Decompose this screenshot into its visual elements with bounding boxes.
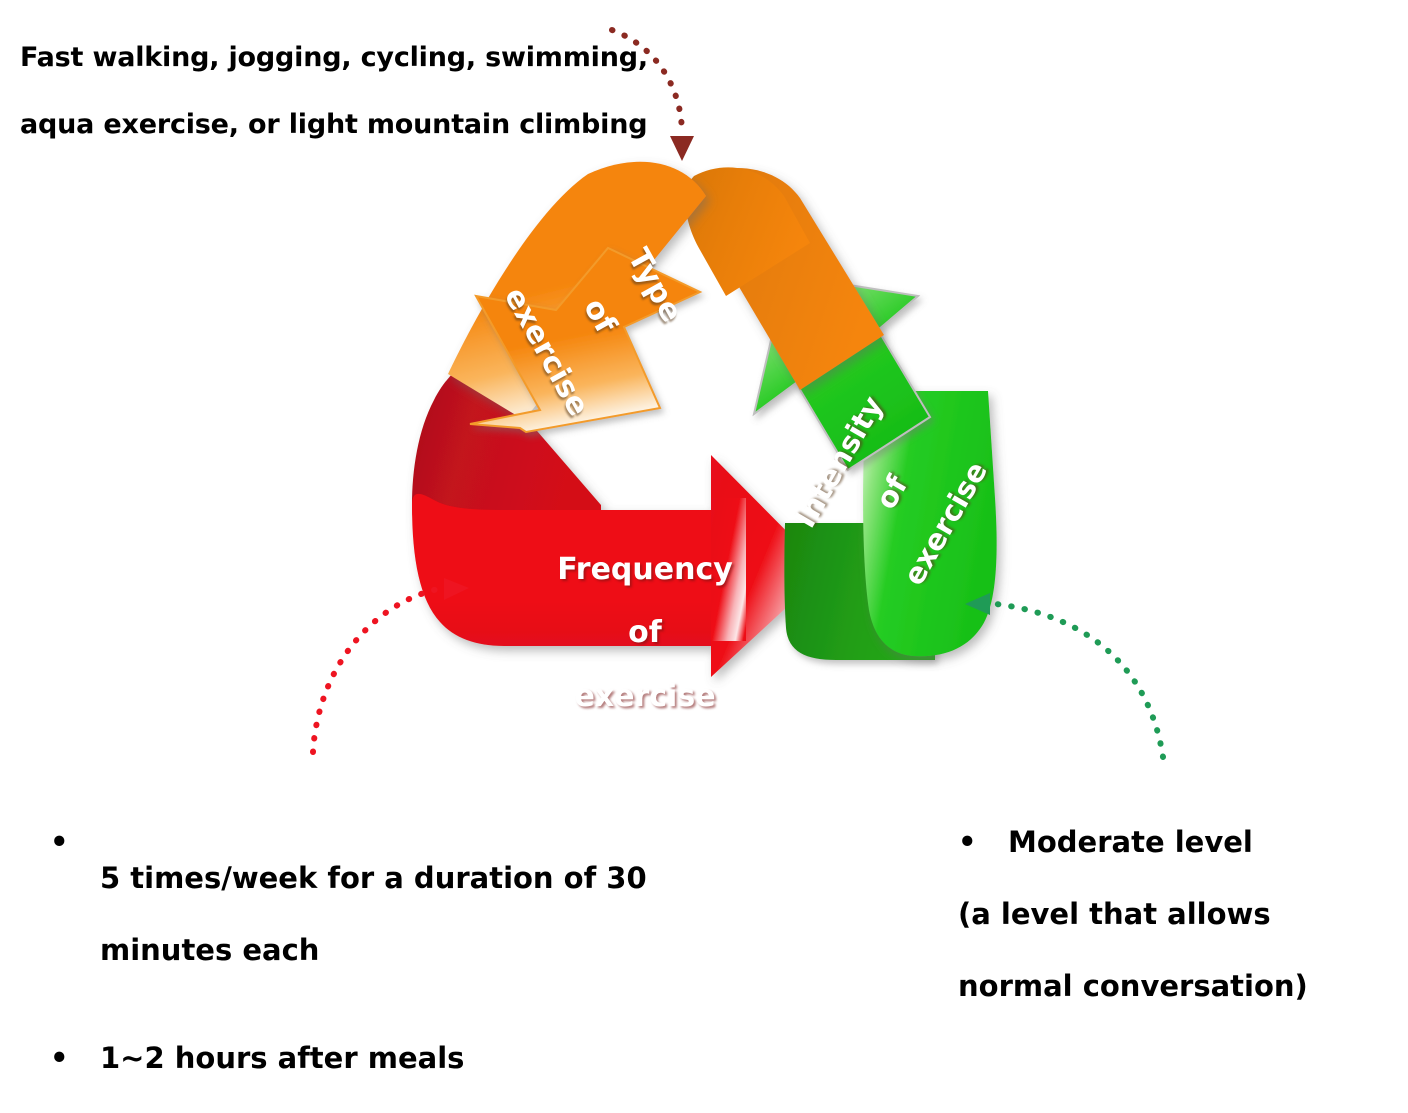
caption-bottom-left-bullet-1: • 5 times/week for a duration of 30 minu…	[50, 825, 690, 1005]
caption-frequency-of-exercise: • 5 times/week for a duration of 30 minu…	[50, 789, 690, 1113]
caption-top-line2: aqua exercise, or light mountain climbin…	[20, 108, 680, 141]
caption-bottom-left-b1-line2: minutes each	[100, 933, 690, 969]
caption-bottom-right-line3: normal conversation)	[958, 969, 1378, 1005]
caption-top-line1: Fast walking, jogging, cycling, swimming…	[20, 41, 680, 74]
caption-bottom-left-bullet-2: • 1~2 hours after meals	[50, 1041, 690, 1077]
caption-type-of-exercise: Fast walking, jogging, cycling, swimming…	[20, 8, 680, 175]
caption-intensity-of-exercise: • Moderate level (a level that allows no…	[958, 789, 1378, 1041]
caption-bottom-right-line2: (a level that allows	[958, 897, 1378, 933]
caption-bottom-right-bullet-1: • Moderate level	[958, 825, 1378, 861]
arrow-frequency-head-neck	[711, 498, 746, 641]
bullet-icon: •	[50, 1041, 100, 1077]
arrow-frequency-body	[412, 494, 735, 646]
bullet-icon: •	[958, 825, 1008, 861]
bullet-icon: •	[50, 825, 100, 861]
caption-bottom-left-bullet-1-text: 5 times/week for a duration of 30 minute…	[100, 825, 690, 1005]
caption-bottom-left-b1-line1: 5 times/week for a duration of 30	[100, 861, 690, 897]
caption-bottom-left-b2-line1: 1~2 hours after meals	[100, 1041, 690, 1077]
connector-intensity	[965, 593, 1163, 757]
caption-bottom-right-bullet-text: Moderate level	[1008, 825, 1378, 861]
